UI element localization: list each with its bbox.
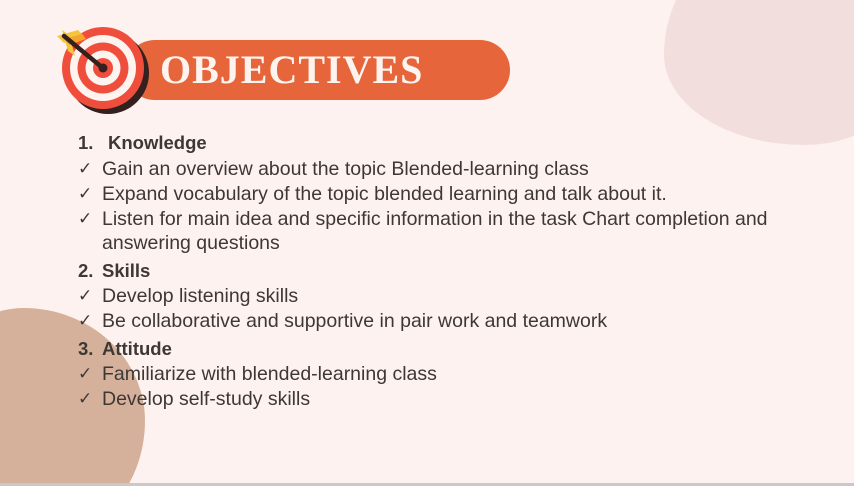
- list-item-label: Knowledge: [108, 130, 818, 155]
- list-item: ✓ Gain an overview about the topic Blend…: [78, 157, 818, 182]
- page-title: OBJECTIVES: [160, 42, 423, 98]
- check-icon: ✓: [78, 182, 102, 207]
- check-icon: ✓: [78, 207, 102, 232]
- list-item-label: Develop listening skills: [102, 284, 818, 309]
- list-item-label: Attitude: [102, 336, 818, 361]
- list-item-label: Skills: [102, 258, 818, 283]
- slide-header: OBJECTIVES: [0, 0, 854, 122]
- list-item-label: Develop self-study skills: [102, 387, 818, 412]
- list-item-label: Listen for main idea and specific inform…: [102, 207, 818, 256]
- list-item-label: Expand vocabulary of the topic blended l…: [102, 182, 818, 207]
- objectives-list: 1. Knowledge ✓ Gain an overview about th…: [78, 128, 818, 412]
- list-item: ✓ Listen for main idea and specific info…: [78, 207, 818, 256]
- list-item-heading-attitude: 3. Attitude: [78, 336, 818, 361]
- list-item: ✓ Familiarize with blended-learning clas…: [78, 362, 818, 387]
- list-item: ✓ Expand vocabulary of the topic blended…: [78, 182, 818, 207]
- list-marker: 2.: [78, 258, 102, 283]
- list-item: ✓ Develop listening skills: [78, 284, 818, 309]
- check-icon: ✓: [78, 157, 102, 182]
- check-icon: ✓: [78, 284, 102, 309]
- list-item: ✓ Be collaborative and supportive in pai…: [78, 309, 818, 334]
- check-icon: ✓: [78, 362, 102, 387]
- slide-canvas: OBJECTIVES 1. Knowledge ✓ Gain an overvi…: [0, 0, 854, 486]
- target-dartboard-icon: [48, 18, 160, 118]
- check-icon: ✓: [78, 309, 102, 334]
- list-item-heading-knowledge: 1. Knowledge: [78, 130, 818, 155]
- list-item-label: Be collaborative and supportive in pair …: [102, 309, 818, 334]
- list-item-label: Gain an overview about the topic Blended…: [102, 157, 818, 182]
- check-icon: ✓: [78, 387, 102, 412]
- list-marker: 1.: [78, 130, 108, 155]
- list-item-heading-skills: 2. Skills: [78, 258, 818, 283]
- list-item: ✓ Develop self-study skills: [78, 387, 818, 412]
- list-item-label: Familiarize with blended-learning class: [102, 362, 818, 387]
- list-marker: 3.: [78, 336, 102, 361]
